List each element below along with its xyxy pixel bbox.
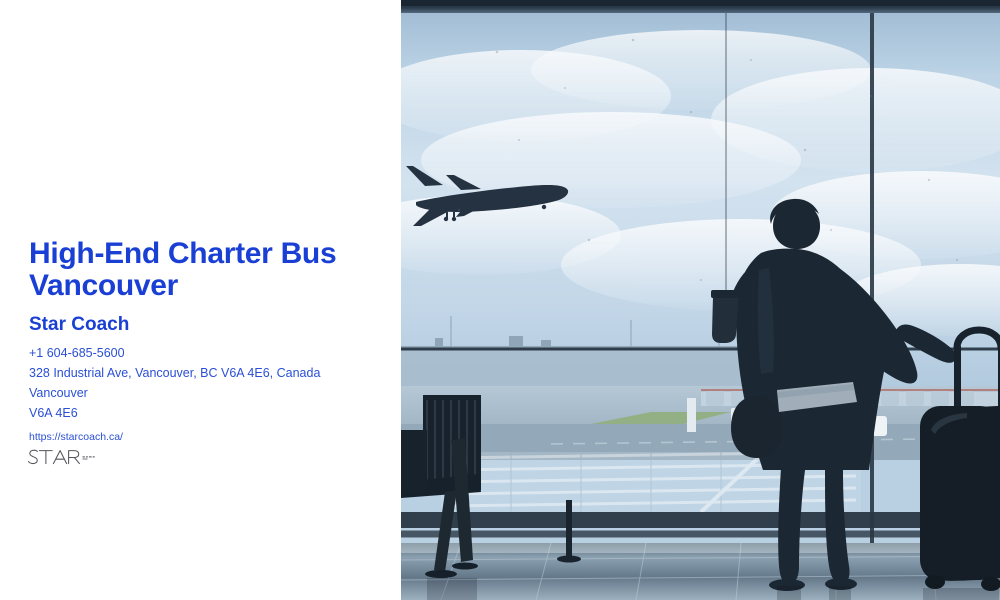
info-panel: High-End Charter Bus Vancouver Star Coac… bbox=[0, 0, 401, 600]
website-link[interactable]: https://starcoach.ca/ bbox=[29, 427, 379, 447]
star-coach-logo bbox=[27, 448, 147, 470]
logo-wordmark-icon bbox=[27, 448, 147, 470]
logo-subtext-icon bbox=[83, 456, 95, 460]
phone-number[interactable]: +1 604-685-5600 bbox=[29, 343, 379, 363]
airport-terminal-scene-image bbox=[401, 0, 1000, 600]
hero-photo bbox=[401, 0, 1000, 600]
street-address: 328 Industrial Ave, Vancouver, BC V6A 4E… bbox=[29, 363, 379, 383]
page-title: High-End Charter Bus Vancouver bbox=[29, 238, 379, 302]
postal-code: V6A 4E6 bbox=[29, 403, 379, 423]
business-listing-page: High-End Charter Bus Vancouver Star Coac… bbox=[0, 0, 1000, 600]
city-name: Vancouver bbox=[29, 383, 379, 403]
info-content: High-End Charter Bus Vancouver Star Coac… bbox=[29, 238, 379, 447]
business-name: Star Coach bbox=[29, 314, 379, 336]
